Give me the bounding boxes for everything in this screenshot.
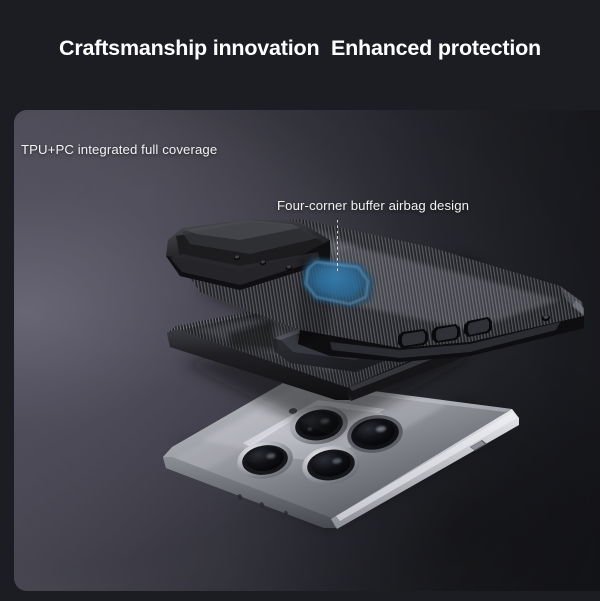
product-showcase-image: Craftsmanship innovation Enhanced protec… [0, 0, 600, 601]
showcase-panel [14, 110, 600, 591]
page-title: Craftsmanship innovation Enhanced protec… [0, 36, 600, 61]
label-airbag: Four-corner buffer airbag design [277, 198, 469, 213]
panel-sheen-overlay [14, 110, 600, 591]
panel-vignette-overlay [14, 110, 600, 591]
label-material: TPU+PC integrated full coverage [21, 142, 217, 157]
airbag-leader-line [337, 220, 338, 273]
